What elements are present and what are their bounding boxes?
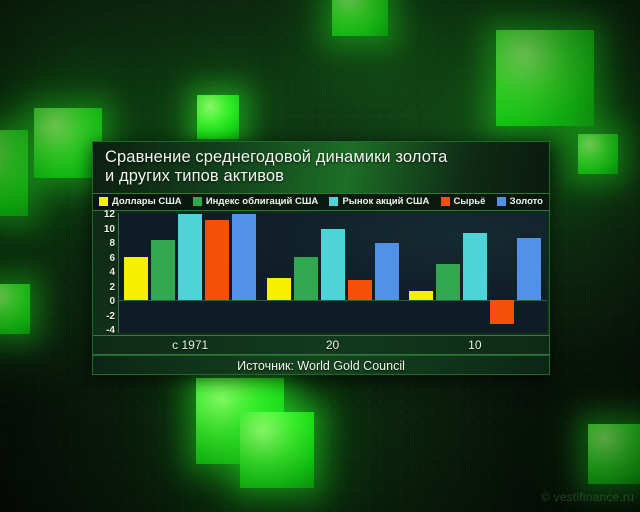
legend-item: Доллары США <box>99 196 182 207</box>
chart-bar <box>151 240 175 300</box>
plot-area-wrapper: 121086420-2-4 <box>93 211 549 335</box>
legend-item: Рынок акций США <box>329 196 429 207</box>
y-axis-tick-label: 2 <box>109 283 115 293</box>
chart-bar <box>517 238 541 300</box>
legend-label: Индекс облигаций США <box>206 196 318 207</box>
y-axis-tick-label: 10 <box>104 225 115 235</box>
y-axis: 121086420-2-4 <box>93 213 118 333</box>
card-title-line-2: и других типов активов <box>105 167 539 186</box>
chart-bar <box>321 229 345 300</box>
legend-item: Индекс облигаций США <box>193 196 318 207</box>
y-axis-tick-label: 8 <box>109 239 115 249</box>
y-axis-tick-label: 0 <box>109 297 115 307</box>
chart-bar <box>409 291 433 300</box>
x-axis-tick-label: 10 <box>468 338 481 352</box>
chart-bar <box>267 278 291 300</box>
legend-item: Золото <box>497 196 543 207</box>
chart-bar <box>436 264 460 300</box>
card-title-line-1: Сравнение среднегодовой динамики золота <box>105 148 539 167</box>
chart-bar <box>232 214 256 300</box>
chart-bar <box>375 243 399 300</box>
chart-bar <box>348 280 372 300</box>
chart-bar <box>490 300 514 324</box>
card-header: Сравнение среднегодовой динамики золота … <box>93 142 549 194</box>
legend-label: Рынок акций США <box>342 196 429 207</box>
legend-label: Сырьё <box>454 196 486 207</box>
x-axis: с 19712010 <box>93 335 549 355</box>
chart-bar <box>463 233 487 300</box>
y-axis-tick-label: -2 <box>106 312 115 322</box>
y-axis-tick-label: 12 <box>104 210 115 220</box>
chart-bar <box>294 257 318 301</box>
y-axis-tick-label: 6 <box>109 254 115 264</box>
legend-swatch <box>441 197 450 206</box>
watermark: © vestifinance.ru <box>541 490 634 504</box>
plot-area <box>118 213 547 333</box>
source-label: Источник: World Gold Council <box>93 355 549 375</box>
screenshot-root: Сравнение среднегодовой динамики золота … <box>0 0 640 512</box>
legend-swatch <box>329 197 338 206</box>
chart-bar <box>178 214 202 300</box>
legend-swatch <box>99 197 108 206</box>
x-axis-tick-label: с 1971 <box>172 338 208 352</box>
legend-label: Доллары США <box>112 196 182 207</box>
legend-item: Сырьё <box>441 196 486 207</box>
chart-bar <box>205 220 229 300</box>
bar-group-container <box>119 213 547 333</box>
x-axis-tick-label: 20 <box>326 338 339 352</box>
chart-legend: Доллары СШАИндекс облигаций СШАРынок акц… <box>93 194 549 211</box>
legend-label: Золото <box>510 196 543 207</box>
legend-swatch <box>193 197 202 206</box>
y-axis-tick-label: 4 <box>109 268 115 278</box>
legend-swatch <box>497 197 506 206</box>
chart-bar <box>124 257 148 301</box>
infographic-card: Сравнение среднегодовой динамики золота … <box>92 141 550 375</box>
